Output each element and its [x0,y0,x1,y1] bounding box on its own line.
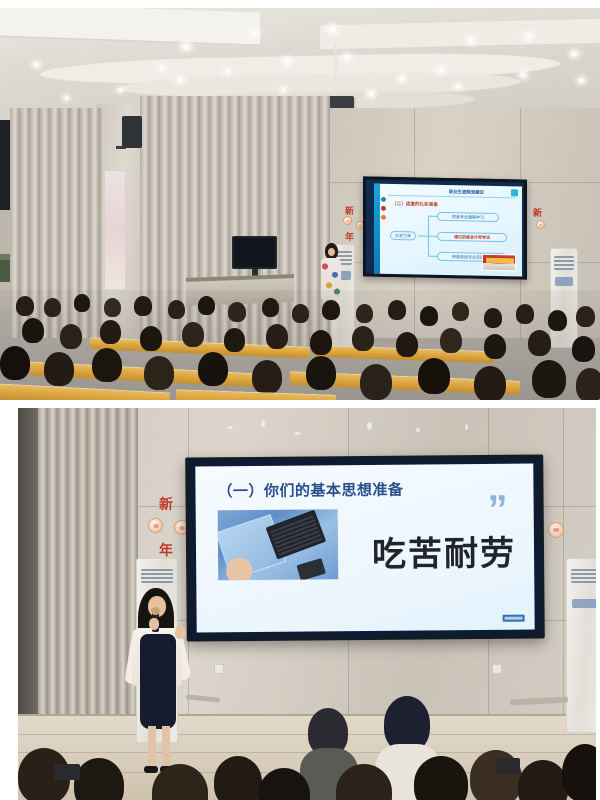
audience-head [198,296,215,315]
audience-head [576,368,600,400]
photo-panel-bottom: 新 年 祝 （一）你们的基本思想准备 [18,408,596,800]
ceiling-light [343,54,351,60]
wall-speckle [416,428,420,432]
wall-outlet [214,664,224,674]
audience-head [262,298,279,317]
wall-poster [104,170,126,290]
slide-section-title: （二）适度的扎实准备 [392,201,438,208]
audience-head [352,326,374,351]
slide-connector [428,256,437,257]
ceiling-light [437,67,446,73]
audience-head [100,320,121,344]
audience-head [104,298,121,317]
podium-monitor [232,236,277,269]
ceiling-light [224,69,231,74]
ac-panel [555,277,574,286]
slide-photo-laptop-keyboard [266,510,327,560]
slide-branch-node: 抓紧专业课程学习 [437,212,499,222]
air-conditioner-unit [566,558,596,733]
slide-header-tag [511,189,518,196]
ac-vent [141,569,173,583]
slide-dot-red [380,205,387,212]
audience-head [16,296,34,316]
slide-bullet-dots [380,196,387,223]
audience-head [168,300,185,319]
audience-head [214,756,262,800]
audience-head [44,298,61,317]
ceiling-light [455,84,461,89]
wall-seam [563,408,564,718]
presenter-face-top [328,248,335,256]
audience-head [420,306,438,326]
slide-title: （一）你们的基本思想准备 [217,479,403,502]
ceiling-light [466,37,475,44]
audience-head [484,308,502,328]
ceiling-light [64,96,69,100]
ceiling-light [249,30,259,37]
seat-back-device [54,764,80,780]
ceiling-light [158,65,166,71]
audience-head [182,322,204,347]
audience-head [440,328,462,353]
audience-head [198,352,228,386]
wall-speaker [122,116,142,148]
audience-head [548,310,567,331]
wall-sticker-character: 新 [159,494,173,514]
ceiling-light [33,62,40,67]
slide-photo [218,509,339,580]
presenter-hand-right [175,626,186,639]
floor-plank-line [18,734,596,735]
wall-speckle [261,420,265,427]
presenter-hand-left [149,618,159,630]
audience-head [252,360,282,394]
audience-head [388,300,406,320]
slide-divider [388,195,516,198]
audience-head [484,334,506,359]
audience-head [576,306,595,327]
presenter-shoe-left [144,766,158,773]
slide-connector [428,236,437,237]
ceiling-light [578,78,585,83]
audience-head [532,360,566,398]
slide-connector [418,235,428,236]
ceiling-light [283,58,292,64]
monitor-screen [234,238,275,267]
ceiling-light [524,33,533,40]
audience-head [22,318,44,343]
audience-head [306,356,336,390]
audience-head [224,328,245,352]
ceiling-light [280,88,286,92]
slide-thumbnail-image [482,254,516,272]
photo-collage: 新 年 新 职业生涯规划建议 [0,0,600,800]
audience-head [228,302,246,322]
wall-sticker-cartoon [536,220,545,229]
ceiling-light [367,91,375,97]
wall-speckle [367,422,372,430]
slide-dot-blue [380,196,387,203]
wall-speckle [228,426,233,429]
ac-panel [572,599,596,608]
ceiling-light [398,76,406,82]
ceiling-light [519,72,527,78]
audience-head [572,336,595,362]
audience-head [360,364,392,400]
ac-vent [554,256,575,270]
ceiling-light [117,88,123,92]
slide-bottom: （一）你们的基本思想准备 ” 吃苦耐劳 [195,464,534,633]
ceiling-light [177,78,184,83]
slide-photo-phone [296,558,325,580]
photo-panel-top: 新 年 新 职业生涯规划建议 [0,8,600,400]
projection-screen-bottom: （一）你们的基本思想准备 ” 吃苦耐劳 [185,454,545,641]
audience-head [266,324,288,349]
slide-top: 职业生涯规划建议 （二）适度的扎实准备 大学三年 抓紧专业课程学习 通过初级会计… [374,184,522,277]
slide-header-title: 职业生涯规划建议 [449,188,484,196]
wall-sticker-cartoon [343,216,352,225]
wall-speckle [294,432,301,435]
ac-vent [571,569,596,583]
audience-head [562,744,596,800]
wall-speckle [465,424,468,430]
seat-back-device [496,758,520,774]
audience-head [44,352,74,386]
audience-head [134,296,152,316]
audience-head [396,332,418,357]
presenter-dress [140,634,176,729]
audience-head [322,300,340,320]
projection-screen-top: 职业生涯规划建议 （二）适度的扎实准备 大学三年 抓紧专业课程学习 通过初级会计… [363,176,527,279]
ceiling-light [570,51,578,57]
wall-sticker-character: 年 [159,540,173,560]
slide-quote-mark: ” [488,498,508,522]
ceiling-light [327,25,338,33]
wall-outlet [492,664,502,674]
audience-head [356,304,373,323]
slide-dot-orange [380,214,387,221]
audience-head [310,330,332,355]
speaker-bracket [116,146,126,149]
audience-head [452,302,469,321]
stage-curtain-bottom [28,408,138,738]
audience-head [60,324,82,349]
wall-sticker-cartoon [148,518,163,533]
presenter-leg-left [148,726,156,768]
audience-head [140,326,162,351]
slide-center-node: 大学三年 [390,231,416,240]
presenter-leg-right [162,726,170,768]
audience-head [292,304,309,323]
audience-head [474,366,506,400]
ceiling-light [181,43,191,50]
slide-connector [428,216,437,217]
audience-head [516,304,534,324]
audience-head [144,356,174,390]
audience-head [74,294,90,312]
audience-head [528,330,551,356]
slide-branch-node-highlight: 通过初级会计师考试 [437,232,507,242]
audience-head [0,346,30,380]
wall-sticker-cartoon [548,522,564,538]
audience-head [92,348,122,382]
wall-sticker-character: 年 [345,230,354,243]
audience-head [418,358,450,394]
slide-brand-logo [503,615,525,622]
projector-mount-rod [334,44,337,98]
wall-sticker-character: 新 [533,206,542,219]
slide-headline: 吃苦耐劳 [372,526,516,576]
